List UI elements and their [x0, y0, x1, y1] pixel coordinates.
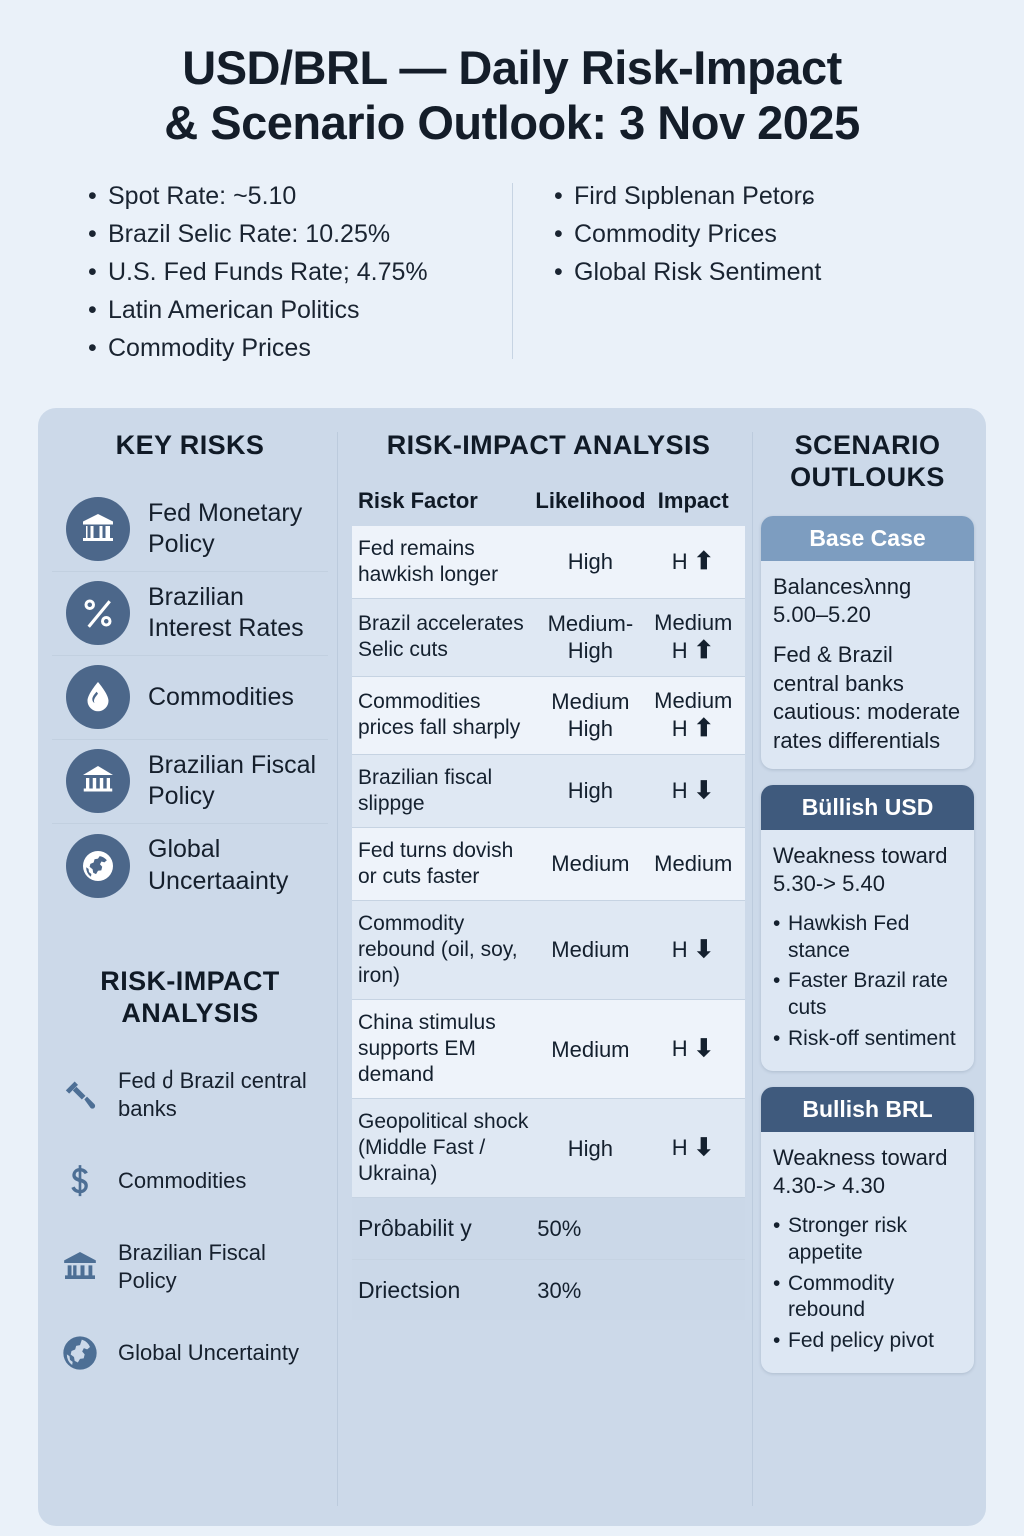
key-risk-label: Brazilian Interest Rates	[148, 582, 328, 645]
bullet-dot-icon: •	[773, 968, 788, 995]
cell-impact: H ⬇	[648, 1034, 739, 1064]
cell-impact: H ⬇	[648, 776, 739, 806]
list-item: • Faster Brazil rate cuts	[773, 968, 962, 1022]
table-row[interactable]: China stimulus supports EM demand Medium…	[352, 1000, 745, 1099]
bank-icon	[66, 497, 130, 561]
bullet-dot-icon: •	[88, 177, 108, 215]
impact-value: H	[672, 1036, 688, 1061]
bullet-dot-icon: •	[773, 911, 788, 938]
scenario-bullet-label: Risk-off sentiment	[788, 1026, 956, 1053]
cell-impact: H ⬇	[648, 935, 739, 965]
bullet-dot-icon: •	[554, 215, 574, 253]
fact-label: Commodity Prices	[108, 329, 311, 367]
top-facts-left-column: • Spot Rate: ~5.10 • Brazil Selic Rate: …	[70, 177, 512, 367]
cell-risk-factor: Fed turns dovish or cuts faster	[358, 838, 533, 890]
table-row[interactable]: Commodity rebound (oil, soy, iron) Mediu…	[352, 901, 745, 1000]
list-item: • Hawkish Fed stance	[773, 911, 962, 965]
risk-impact-side-heading: RISK-IMPACT ANALYSIS	[52, 966, 328, 1030]
bullet-dot-icon: •	[88, 329, 108, 367]
risk-impact-side-label: Global Uncertainty	[118, 1339, 299, 1367]
list-item: • Commodity Prices	[554, 215, 954, 253]
list-item[interactable]: Global Uncertainty	[58, 1310, 328, 1396]
oil-drop-icon	[66, 665, 130, 729]
scenario-card-base-case[interactable]: Base Case Balancesλnng 5.00–5.20 Fed & B…	[761, 516, 974, 769]
scenario-lead: Balancesλnng 5.00–5.20	[773, 573, 962, 630]
table-row-probability[interactable]: Prôbabilit y 50%	[352, 1198, 745, 1260]
risk-impact-table: Risk Factor Likelihood Impact Fed remain…	[352, 488, 745, 1321]
list-item: • Risk-off sentiment	[773, 1026, 962, 1053]
list-item: • Spot Rate: ~5.10	[88, 177, 512, 215]
cell-risk-factor: Fed remains hawkish longer	[358, 536, 533, 588]
impact-arrow-icon: ⬆	[694, 637, 715, 664]
cell-impact: H ⬇	[648, 1133, 739, 1163]
fact-label: Brazil Selic Rate: 10.25%	[108, 215, 390, 253]
bullet-dot-icon: •	[773, 1271, 788, 1298]
fact-label: Fird Sιpblenan Petorɕ	[574, 177, 814, 215]
scenario-card-title: Base Case	[761, 516, 974, 561]
scenario-card-title: Büllish USD	[761, 785, 974, 830]
cell-likelihood: Medium	[533, 936, 647, 963]
list-item[interactable]: Commodities	[52, 656, 328, 740]
risk-impact-side-label: Commodities	[118, 1167, 246, 1195]
bullet-dot-icon: •	[88, 215, 108, 253]
key-risks-heading: KEY RISKS	[52, 430, 328, 462]
impact-arrow-icon: ⬆	[694, 715, 715, 742]
percent-icon	[66, 581, 130, 645]
cell-likelihood: Medium	[533, 1036, 647, 1063]
page-title-line-2: & Scenario Outlook: 3 Nov 2025	[55, 95, 969, 150]
cell-likelihood: Medium	[533, 850, 647, 877]
scenario-lead: Weakness toward 4.30-> 4.30	[773, 1144, 962, 1201]
bullet-dot-icon: •	[773, 1026, 788, 1053]
list-item: • Commodity rebound	[773, 1271, 962, 1325]
scenario-bullet-list: • Hawkish Fed stance • Faster Brazil rat…	[773, 911, 962, 1053]
bank-icon	[58, 1245, 102, 1289]
cell-risk-factor: Commodity rebound (oil, soy, iron)	[358, 911, 533, 989]
cell-risk-factor: Brazilian fiscal slippge	[358, 765, 533, 817]
table-header-row: Risk Factor Likelihood Impact	[352, 488, 745, 526]
globe-icon	[66, 834, 130, 898]
scenario-note: Fed & Brazil central banks cautious: mod…	[773, 641, 962, 755]
column-header-risk-factor: Risk Factor	[358, 488, 533, 514]
list-item: • Commodity Prices	[88, 329, 512, 367]
summary-value: 30%	[533, 1277, 647, 1304]
risk-impact-table-heading: RISK-IMPACT ANALYSIS	[352, 430, 745, 462]
cell-impact: Medium H ⬆	[648, 687, 739, 744]
key-risks-column: KEY RISKS Fed Monetary Policy Brazilian …	[38, 408, 338, 1526]
list-item[interactable]: Brazilian Fiscal Policy	[58, 1224, 328, 1310]
cell-likelihood: Medium-High	[533, 610, 647, 665]
list-item[interactable]: Fed Monetary Policy	[52, 488, 328, 572]
cell-risk-factor: Brazil accelerates Selic cuts	[358, 611, 533, 663]
list-item: • Global Risk Sentiment	[554, 253, 954, 291]
list-item[interactable]: Global Uncertaainty	[52, 824, 328, 908]
top-facts-divider	[512, 183, 513, 359]
fact-label: Spot Rate: ~5.10	[108, 177, 296, 215]
page-title: USD/BRL — Daily Risk-Impact & Scenario O…	[0, 0, 1024, 151]
scenario-bullet-label: Stronger risk appetite	[788, 1213, 962, 1267]
summary-label: Prôbabilit y	[358, 1214, 533, 1243]
cell-likelihood: High	[533, 777, 647, 804]
bullet-dot-icon: •	[554, 253, 574, 291]
bullet-dot-icon: •	[88, 291, 108, 329]
bullet-dot-icon: •	[773, 1328, 788, 1355]
list-item: • Fird Sιpblenan Petorɕ	[554, 177, 954, 215]
key-risk-label: Fed Monetary Policy	[148, 498, 328, 561]
list-item: • Stronger risk appetite	[773, 1213, 962, 1267]
summary-label: Driectsion	[358, 1276, 533, 1305]
top-facts-right-column: • Fird Sιpblenan Petorɕ • Commodity Pric…	[512, 177, 954, 367]
globe-icon	[58, 1331, 102, 1375]
list-item[interactable]: Fed ძ Brazil central banks	[58, 1052, 328, 1138]
top-facts: • Spot Rate: ~5.10 • Brazil Selic Rate: …	[70, 177, 954, 367]
list-item[interactable]: Commodities	[58, 1138, 328, 1224]
fact-label: Global Risk Sentiment	[574, 253, 821, 291]
scenario-bullet-label: Commodity rebound	[788, 1271, 962, 1325]
cell-impact: H ⬆	[648, 547, 739, 577]
gavel-icon	[58, 1073, 102, 1117]
scenario-bullet-label: Faster Brazil rate cuts	[788, 968, 962, 1022]
fact-label: Commodity Prices	[574, 215, 777, 253]
impact-arrow-icon: ⬇	[694, 1134, 715, 1161]
cell-likelihood: High	[533, 1135, 647, 1162]
impact-value: H	[672, 778, 688, 803]
table-row[interactable]: Brazilian fiscal slippge High H ⬇	[352, 755, 745, 828]
key-risk-label: Brazilian Fiscal Policy	[148, 750, 328, 813]
scenario-card-bullish-brl[interactable]: Bullish BRL Weakness toward 4.30-> 4.30 …	[761, 1087, 974, 1373]
scenario-bullet-list: • Stronger risk appetite • Commodity reb…	[773, 1213, 962, 1355]
cell-impact: Medium H ⬆	[648, 609, 739, 666]
fact-label: U.S. Fed Funds Rate; 4.75%	[108, 253, 428, 291]
key-risks-list: Fed Monetary Policy Brazilian Interest R…	[52, 488, 328, 908]
scenario-bullet-label: Fed pelicy pivot	[788, 1328, 934, 1355]
summary-value: 50%	[533, 1215, 647, 1242]
list-item: • Brazil Selic Rate: 10.25%	[88, 215, 512, 253]
list-item: • Latin American Politics	[88, 291, 512, 329]
list-item[interactable]: Brazilian Fiscal Policy	[52, 740, 328, 824]
cell-likelihood: Medium High	[533, 688, 647, 743]
list-item: • U.S. Fed Funds Rate; 4.75%	[88, 253, 512, 291]
page-title-line-1: USD/BRL — Daily Risk-Impact	[55, 40, 969, 95]
scenario-card-bullish-usd[interactable]: Büllish USD Weakness toward 5.30-> 5.40 …	[761, 785, 974, 1071]
risk-impact-table-column: RISK-IMPACT ANALYSIS Risk Factor Likelih…	[338, 408, 753, 1526]
scenario-outlooks-heading: SCENARIO OUTLOUKS	[761, 430, 974, 494]
scenario-outlooks-column: SCENARIO OUTLOUKS Base Case Balancesλnng…	[753, 408, 986, 1526]
cell-impact: Medium	[648, 849, 739, 879]
cell-risk-factor: Geopolitical shock (Middle Fast / Ukrain…	[358, 1109, 533, 1187]
bullet-dot-icon: •	[773, 1213, 788, 1240]
impact-value: H	[672, 937, 688, 962]
table-row[interactable]: Fed turns dovish or cuts faster Medium M…	[352, 828, 745, 901]
impact-value: H	[672, 1135, 688, 1160]
risk-impact-side-label: Fed ძ Brazil central banks	[118, 1067, 328, 1122]
cell-risk-factor: Commodities prices fall sharply	[358, 689, 533, 741]
table-row[interactable]: Fed remains hawkish longer High H ⬆	[352, 526, 745, 599]
risk-impact-side-list: Fed ძ Brazil central banks Commodities B…	[52, 1052, 328, 1396]
list-item: • Fed pelicy pivot	[773, 1328, 962, 1355]
scenario-bullet-label: Hawkish Fed stance	[788, 911, 962, 965]
dollar-icon	[58, 1159, 102, 1203]
impact-arrow-icon: ⬇	[694, 1035, 715, 1062]
bullet-dot-icon: •	[88, 253, 108, 291]
scenario-lead: Weakness toward 5.30-> 5.40	[773, 842, 962, 899]
risk-impact-side-label: Brazilian Fiscal Policy	[118, 1239, 328, 1294]
bullet-dot-icon: •	[554, 177, 574, 215]
key-risk-label: Global Uncertaainty	[148, 834, 328, 897]
scenario-card-title: Bullish BRL	[761, 1087, 974, 1132]
cell-risk-factor: China stimulus supports EM demand	[358, 1010, 533, 1088]
fact-label: Latin American Politics	[108, 291, 360, 329]
impact-arrow-icon: ⬇	[694, 777, 715, 804]
impact-value: H	[672, 549, 688, 574]
table-row[interactable]: Geopolitical shock (Middle Fast / Ukrain…	[352, 1099, 745, 1198]
main-panel: KEY RISKS Fed Monetary Policy Brazilian …	[38, 408, 986, 1526]
column-header-impact: Impact	[648, 488, 739, 514]
table-row[interactable]: Commodities prices fall sharply Medium H…	[352, 677, 745, 755]
table-row[interactable]: Brazil accelerates Selic cuts Medium-Hig…	[352, 599, 745, 677]
cell-likelihood: High	[533, 548, 647, 575]
list-item[interactable]: Brazilian Interest Rates	[52, 572, 328, 656]
table-row-direction[interactable]: Driectsion 30%	[352, 1260, 745, 1321]
bank-icon	[66, 749, 130, 813]
impact-value: Medium	[654, 851, 732, 876]
impact-arrow-icon: ⬇	[694, 936, 715, 963]
key-risk-label: Commodities	[148, 682, 294, 714]
column-header-likelihood: Likelihood	[533, 488, 647, 514]
impact-arrow-icon: ⬆	[694, 548, 715, 575]
